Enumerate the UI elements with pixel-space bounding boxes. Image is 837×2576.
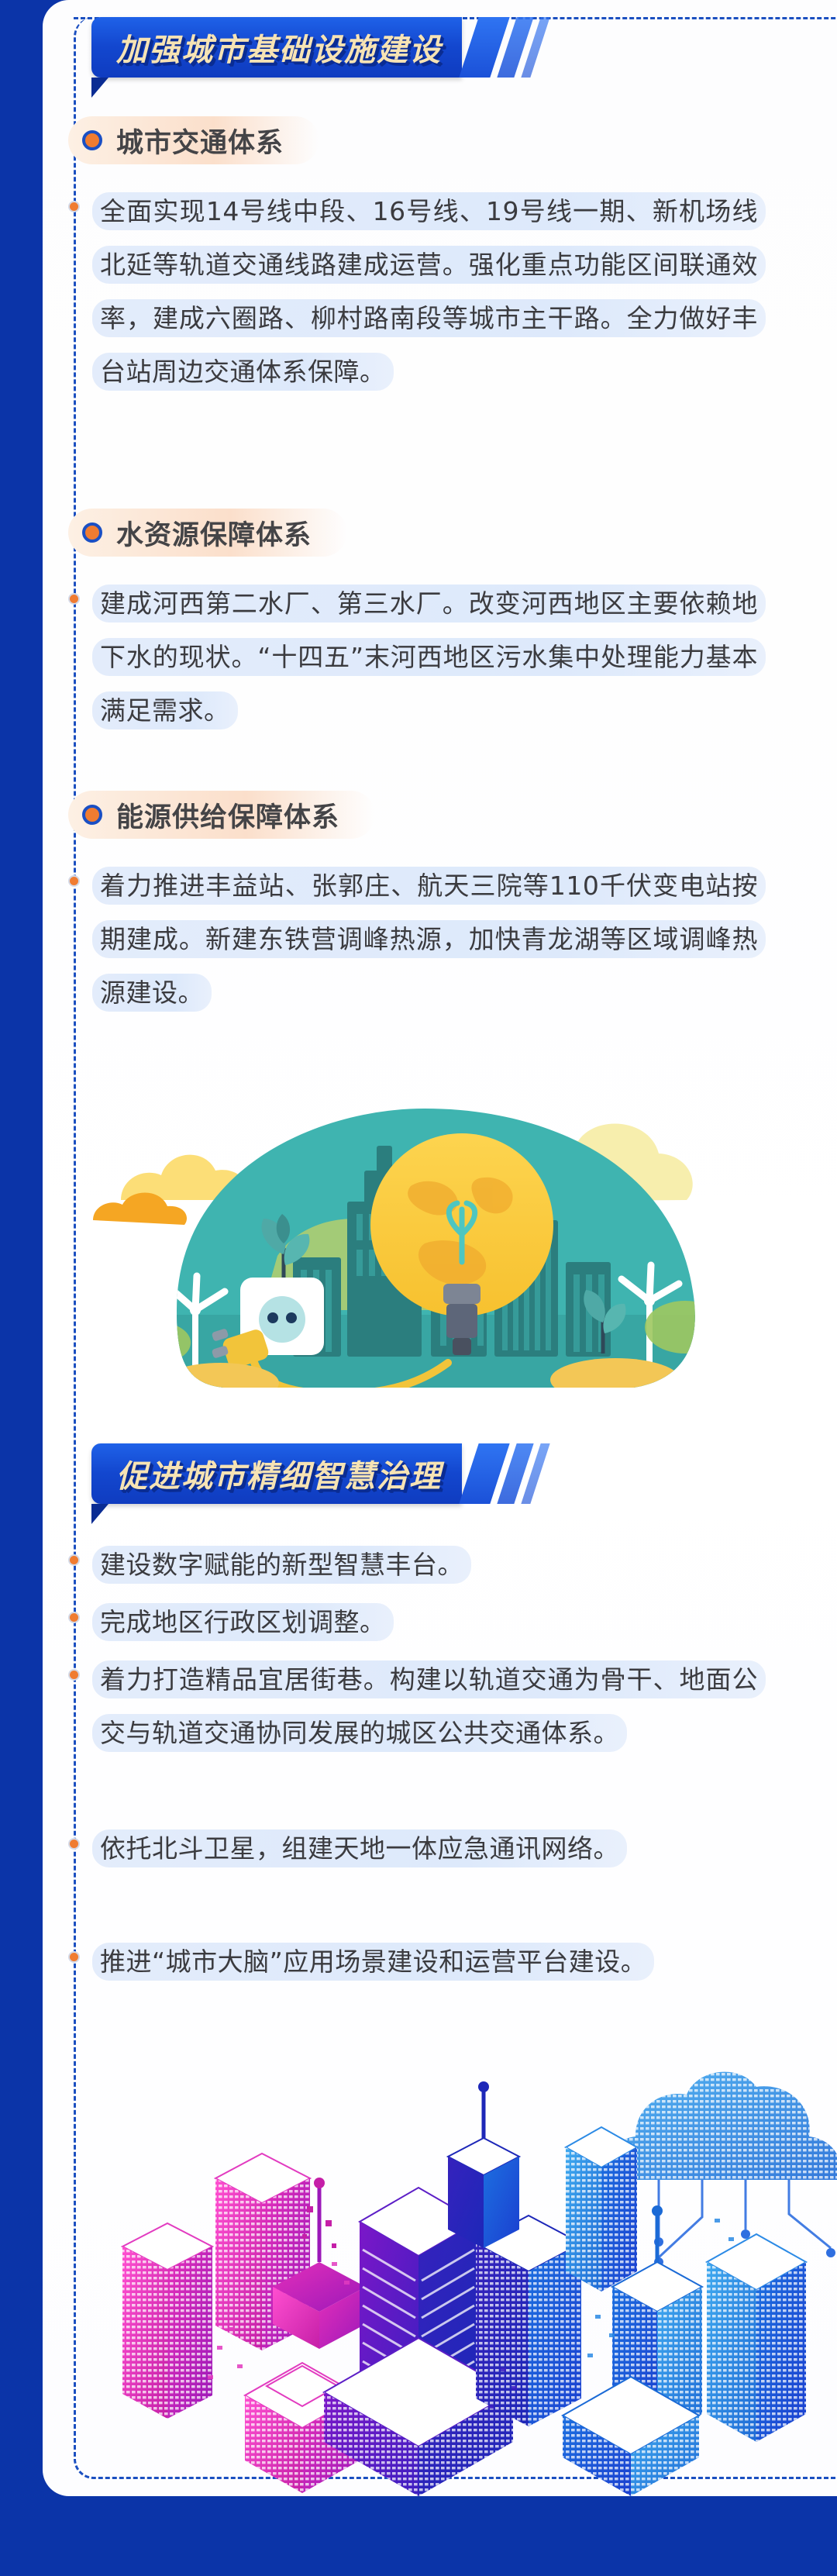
section-heading-label: 水资源保障体系 <box>116 513 312 553</box>
paragraph-text-inner: 完成地区行政区划调整。 <box>92 1603 394 1641</box>
banner-title-2: 促进城市精细智慧治理 <box>116 1451 442 1496</box>
banner-tail-2 <box>91 1504 108 1524</box>
block-indigo-back <box>448 2081 519 2248</box>
paragraph-text-inner: 全面实现14号线中段、16号线、19号线一期、新机场线北延等轨道交通线路建成运营… <box>92 192 766 391</box>
paragraph-energy: 着力推进丰益站、张郭庄、航天三院等110千伏变电站按期建成。新建东铁营调峰热源，… <box>68 859 766 1019</box>
list-item-livable-streets: 着力打造精品宜居街巷。构建以轨道交通为骨干、地面公交与轨道交通协同发展的城区公共… <box>68 1653 766 1760</box>
section-heading-energy: 能源供给保障体系 <box>68 791 375 839</box>
paragraph-text-inner: 依托北斗卫星，组建天地一体应急通讯网络。 <box>92 1829 627 1867</box>
list-bullet-icon <box>68 1669 80 1681</box>
list-bullet-icon <box>68 1554 80 1566</box>
paragraph-text-inner: 推进“城市大脑”应用场景建设和运营平台建设。 <box>92 1943 654 1981</box>
smart-city-isometric-illustration <box>77 2054 837 2496</box>
section-banner-1: 加强城市基础设施建设 <box>91 17 540 78</box>
paragraph-water: 建成河西第二水厂、第三水厂。改变河西地区主要依赖地下水的现状。“十四五”末河西地… <box>68 577 766 737</box>
tower-cyan-back <box>566 2127 637 2292</box>
paragraph-text-inner: 建设数字赋能的新型智慧丰台。 <box>92 1546 471 1584</box>
paragraph-text: 建设数字赋能的新型智慧丰台。 <box>92 1538 471 1591</box>
list-bullet-icon <box>68 875 80 887</box>
list-item-city-brain: 推进“城市大脑”应用场景建设和运营平台建设。 <box>68 1935 766 1988</box>
list-bullet-icon <box>68 1951 80 1963</box>
list-bullet-icon <box>68 593 80 605</box>
section-banner-2: 促进城市精细智慧治理 <box>91 1443 540 1504</box>
list-item-beidou-network: 依托北斗卫星，组建天地一体应急通讯网络。 <box>68 1822 766 1875</box>
paragraph-text: 完成地区行政区划调整。 <box>92 1595 394 1649</box>
banner-tail-1 <box>91 78 108 98</box>
paragraph-text: 全面实现14号线中段、16号线、19号线一期、新机场线北延等轨道交通线路建成运营… <box>92 184 766 398</box>
paragraph-text-inner: 着力推进丰益站、张郭庄、航天三院等110千伏变电站按期建成。新建东铁营调峰热源，… <box>92 867 766 1012</box>
section-heading-label: 能源供给保障体系 <box>116 795 339 835</box>
paragraph-text: 推进“城市大脑”应用场景建设和运营平台建设。 <box>92 1935 654 1988</box>
list-item-smart-platform: 建设数字赋能的新型智慧丰台。 <box>68 1538 766 1591</box>
section-heading-label: 城市交通体系 <box>116 121 284 160</box>
list-bullet-icon <box>68 201 80 212</box>
list-bullet-icon <box>68 1838 80 1850</box>
banner-body-1: 加强城市基础设施建设 <box>91 17 462 78</box>
banner-body-2: 促进城市精细智慧治理 <box>91 1443 462 1504</box>
paragraph-text-inner: 着力打造精品宜居街巷。构建以轨道交通为骨干、地面公交与轨道交通协同发展的城区公共… <box>92 1660 766 1752</box>
list-item-district-adjust: 完成地区行政区划调整。 <box>68 1595 766 1649</box>
section-heading-transport: 城市交通体系 <box>68 116 319 164</box>
section-heading-water: 水资源保障体系 <box>68 509 347 557</box>
heading-bullet-icon <box>82 130 102 150</box>
tower-pink-far-left <box>122 2223 212 2419</box>
paragraph-text: 着力打造精品宜居街巷。构建以轨道交通为骨干、地面公交与轨道交通协同发展的城区公共… <box>92 1653 766 1760</box>
paragraph-text-inner: 建成河西第二水厂、第三水厂。改变河西地区主要依赖地下水的现状。“十四五”末河西地… <box>92 585 766 729</box>
heading-bullet-icon <box>82 805 102 825</box>
infographic-page: 加强城市基础设施建设 城市交通体系 全面实现14号线中段、16号线、19号线一期… <box>0 0 837 2576</box>
cloud-network-icon <box>609 2072 837 2267</box>
heading-bullet-icon <box>82 522 102 543</box>
tower-indigo-right <box>476 2216 581 2426</box>
paragraph-text: 建成河西第二水厂、第三水厂。改变河西地区主要依赖地下水的现状。“十四五”末河西地… <box>92 577 766 737</box>
banner-title-1: 加强城市基础设施建设 <box>116 25 442 70</box>
paragraph-text: 着力推进丰益站、张郭庄、航天三院等110千伏变电站按期建成。新建东铁营调峰热源，… <box>92 859 766 1019</box>
paragraph-text: 依托北斗卫星，组建天地一体应急通讯网络。 <box>92 1822 627 1875</box>
tower-cyan-far-right <box>707 2234 806 2442</box>
list-bullet-icon <box>68 1612 80 1623</box>
green-energy-city-illustration <box>60 1054 781 1411</box>
paragraph-transport: 全面实现14号线中段、16号线、19号线一期、新机场线北延等轨道交通线路建成运营… <box>68 184 766 398</box>
